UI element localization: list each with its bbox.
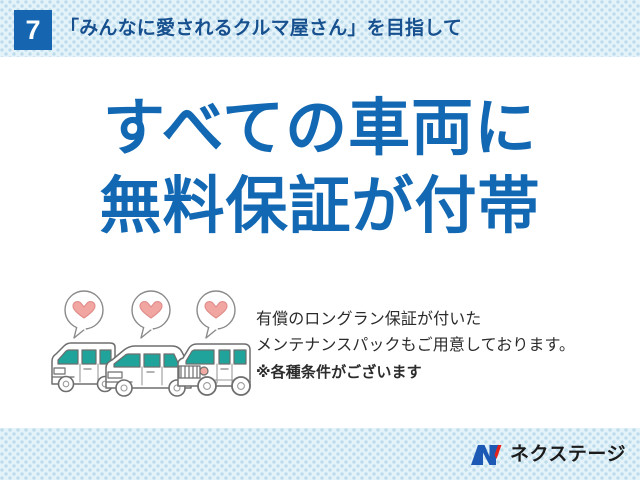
section-number-badge: 7 xyxy=(14,10,52,50)
advertisement-page: 7 「みんなに愛されるクルマ屋さん」を目指して すべての車両に 無料保証が付帯 xyxy=(0,0,640,480)
nextage-n-icon xyxy=(469,444,503,466)
brand-name: ネクステージ xyxy=(510,444,626,466)
headline-line-2: 無料保証が付帯 xyxy=(0,174,640,240)
heart-bubble-2 xyxy=(132,291,170,338)
headline: すべての車両に 無料保証が付帯 xyxy=(0,96,640,239)
description-note: ※各種条件がございます xyxy=(256,360,626,385)
heart-bubble-3 xyxy=(197,291,235,338)
headline-line-1: すべての車両に xyxy=(0,96,640,162)
header-title: 「みんなに愛されるクルマ屋さん」を目指して xyxy=(60,13,462,45)
heart-bubble-1 xyxy=(65,291,103,338)
brand-logo: ネクステージ xyxy=(469,441,626,469)
description-line-2: メンテナンスパックもご用意しております。 xyxy=(256,333,626,359)
cars-illustration xyxy=(44,288,259,400)
description-line-1: 有償のロングラン保証が付いた xyxy=(256,307,626,333)
description-text: 有償のロングラン保証が付いた メンテナンスパックもご用意しております。 ※各種条… xyxy=(256,307,626,385)
